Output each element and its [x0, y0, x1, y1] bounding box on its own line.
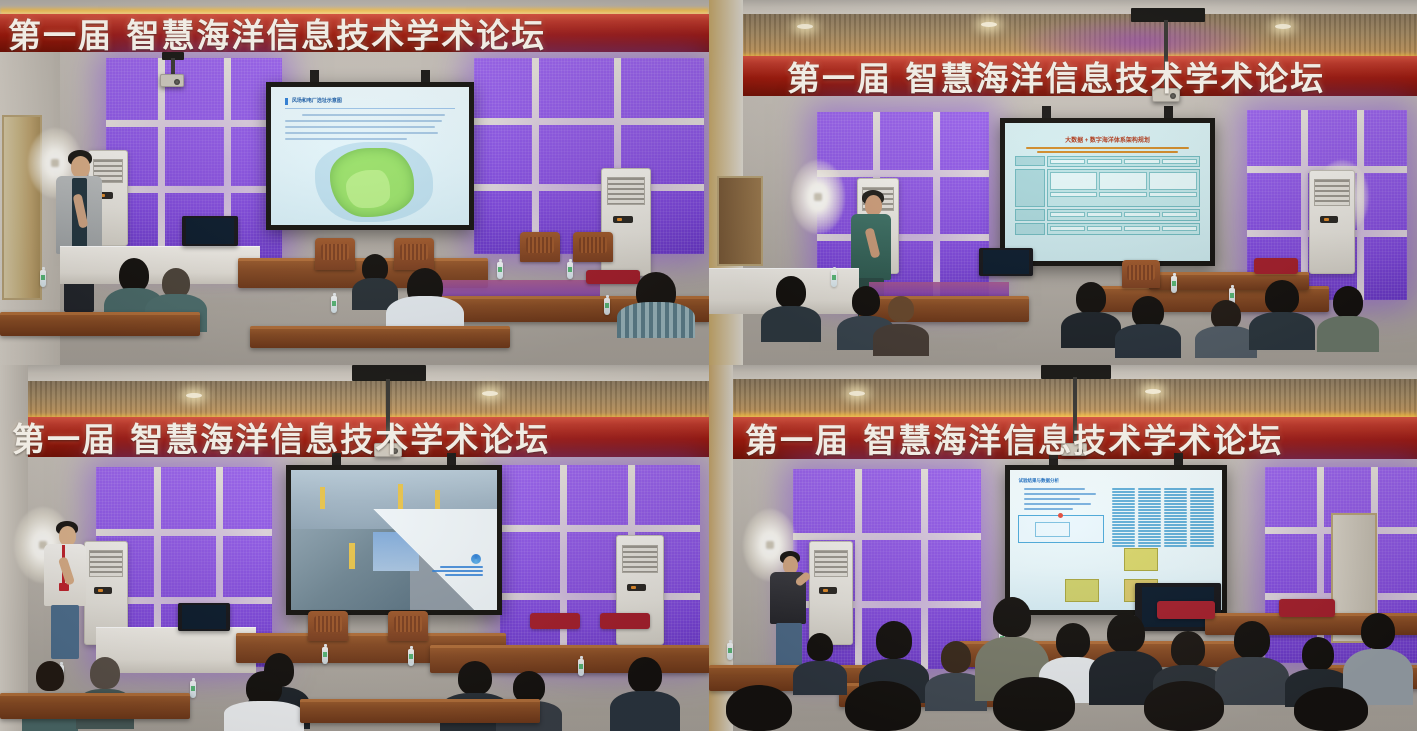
ceiling-projector — [160, 74, 184, 87]
backlit-window-right — [500, 465, 700, 663]
audience-member — [610, 657, 680, 731]
audience-member — [1115, 296, 1181, 358]
speaker-white-shirt — [40, 521, 96, 661]
chair — [308, 611, 348, 641]
red-chair-cushion — [1157, 601, 1215, 619]
audience-member — [1061, 282, 1121, 348]
audience-member — [617, 272, 695, 338]
downlight-icon — [849, 391, 865, 396]
conference-banner: 第一届 智慧海洋信息技术学术论坛 — [0, 417, 709, 457]
audience-member — [1249, 280, 1315, 350]
slide-photo-collage — [291, 470, 497, 610]
water-bottle — [831, 270, 837, 287]
backlit-window-right — [474, 58, 704, 254]
water-bottle — [322, 647, 328, 664]
water-bottle — [578, 659, 584, 676]
chair — [573, 232, 613, 262]
conference-banner: 第一届 智慧海洋信息技术学术论坛 — [709, 56, 1417, 96]
water-bottle — [331, 296, 337, 313]
company-logo — [429, 554, 483, 576]
audience-desk — [0, 312, 200, 336]
banner-text: 第一届 智慧海洋信息技术学术论坛 — [8, 14, 546, 52]
banner-text: 第一届 智慧海洋信息技术学术论坛 — [12, 417, 550, 457]
audience-member-foreground — [1261, 687, 1401, 731]
chair — [315, 238, 355, 270]
speaker-grey-blazer — [52, 150, 112, 315]
downlight-icon — [981, 22, 997, 27]
water-bottle — [497, 262, 503, 279]
monitor — [178, 603, 230, 631]
water-bottle — [408, 649, 414, 666]
downlight-icon — [797, 24, 813, 29]
audience-member — [1317, 286, 1379, 352]
projection-screen: 风场和电厂选址示意图 — [266, 82, 474, 230]
water-bottle — [604, 298, 610, 315]
photo-panel-bottom-left: 第一届 智慧海洋信息技术学术论坛 — [0, 365, 709, 731]
downlight-icon — [482, 391, 498, 396]
photo-panel-top-left: 第一届 智慧海洋信息技术学术论坛 风场和 — [0, 0, 709, 365]
chair — [394, 238, 434, 270]
downlight-icon — [1145, 389, 1161, 394]
red-chair-cushion — [530, 613, 580, 629]
projection-screen — [286, 465, 502, 615]
wall-sconce-icon — [791, 160, 845, 234]
photo-panel-top-right: 第一届 智慧海洋信息技术学术论坛 大数 — [709, 0, 1417, 365]
audience-member — [224, 671, 304, 731]
audience-member — [873, 296, 929, 356]
downlight-icon — [186, 393, 202, 398]
audience-member — [1195, 300, 1257, 358]
photo-grid: 第一届 智慧海洋信息技术学术论坛 风场和 — [0, 0, 1417, 731]
chair — [520, 232, 560, 262]
audience-member-foreground — [709, 685, 819, 731]
audience-member-foreground — [1109, 681, 1259, 731]
slide-coastal-map: 风场和电厂选址示意图 — [271, 87, 469, 225]
slide-title: 大数据 + 数字海洋体系架构规划 — [1015, 135, 1200, 144]
water-bottle — [567, 262, 573, 279]
projection-screen: 大数据 + 数字海洋体系架构规划 — [1000, 118, 1215, 266]
audience-desk — [300, 699, 540, 723]
audience-member-foreground — [813, 681, 953, 731]
downlight-icon — [1275, 24, 1291, 29]
water-bottle — [190, 681, 196, 698]
slide-architecture-table: 大数据 + 数字海洋体系架构规划 — [1005, 123, 1210, 261]
water-bottle — [1171, 276, 1177, 293]
monitor — [979, 248, 1033, 276]
water-bottle — [40, 270, 46, 287]
air-conditioner — [809, 541, 853, 645]
banner-text: 第一届 智慧海洋信息技术学术论坛 — [745, 417, 1283, 459]
audience-member-foreground — [959, 677, 1109, 731]
slide-title: 试验结果与数据分析 — [1018, 478, 1213, 484]
audience-desk — [0, 693, 190, 719]
audience-desk — [250, 326, 510, 348]
red-chair-cushion — [1254, 258, 1298, 274]
audience-member — [761, 276, 821, 342]
banner-text: 第一届 智慧海洋信息技术学术论坛 — [787, 56, 1325, 96]
chair — [1122, 260, 1160, 288]
chair — [388, 611, 428, 641]
photo-panel-bottom-right: 第一届 智慧海洋信息技术学术论坛 试验结果与数据分析 — [709, 365, 1417, 731]
air-conditioner-2 — [1309, 170, 1355, 274]
conference-banner: 第一届 智慧海洋信息技术学术论坛 — [709, 417, 1417, 459]
red-chair-cushion — [1279, 599, 1335, 617]
conference-banner: 第一届 智慧海洋信息技术学术论坛 — [0, 14, 709, 52]
slide-title: 风场和电厂选址示意图 — [285, 97, 455, 104]
red-chair-cushion — [600, 613, 650, 629]
monitor — [182, 216, 238, 246]
water-bottle — [727, 643, 733, 660]
projector-plate — [1131, 8, 1205, 22]
cabinet — [717, 176, 763, 266]
